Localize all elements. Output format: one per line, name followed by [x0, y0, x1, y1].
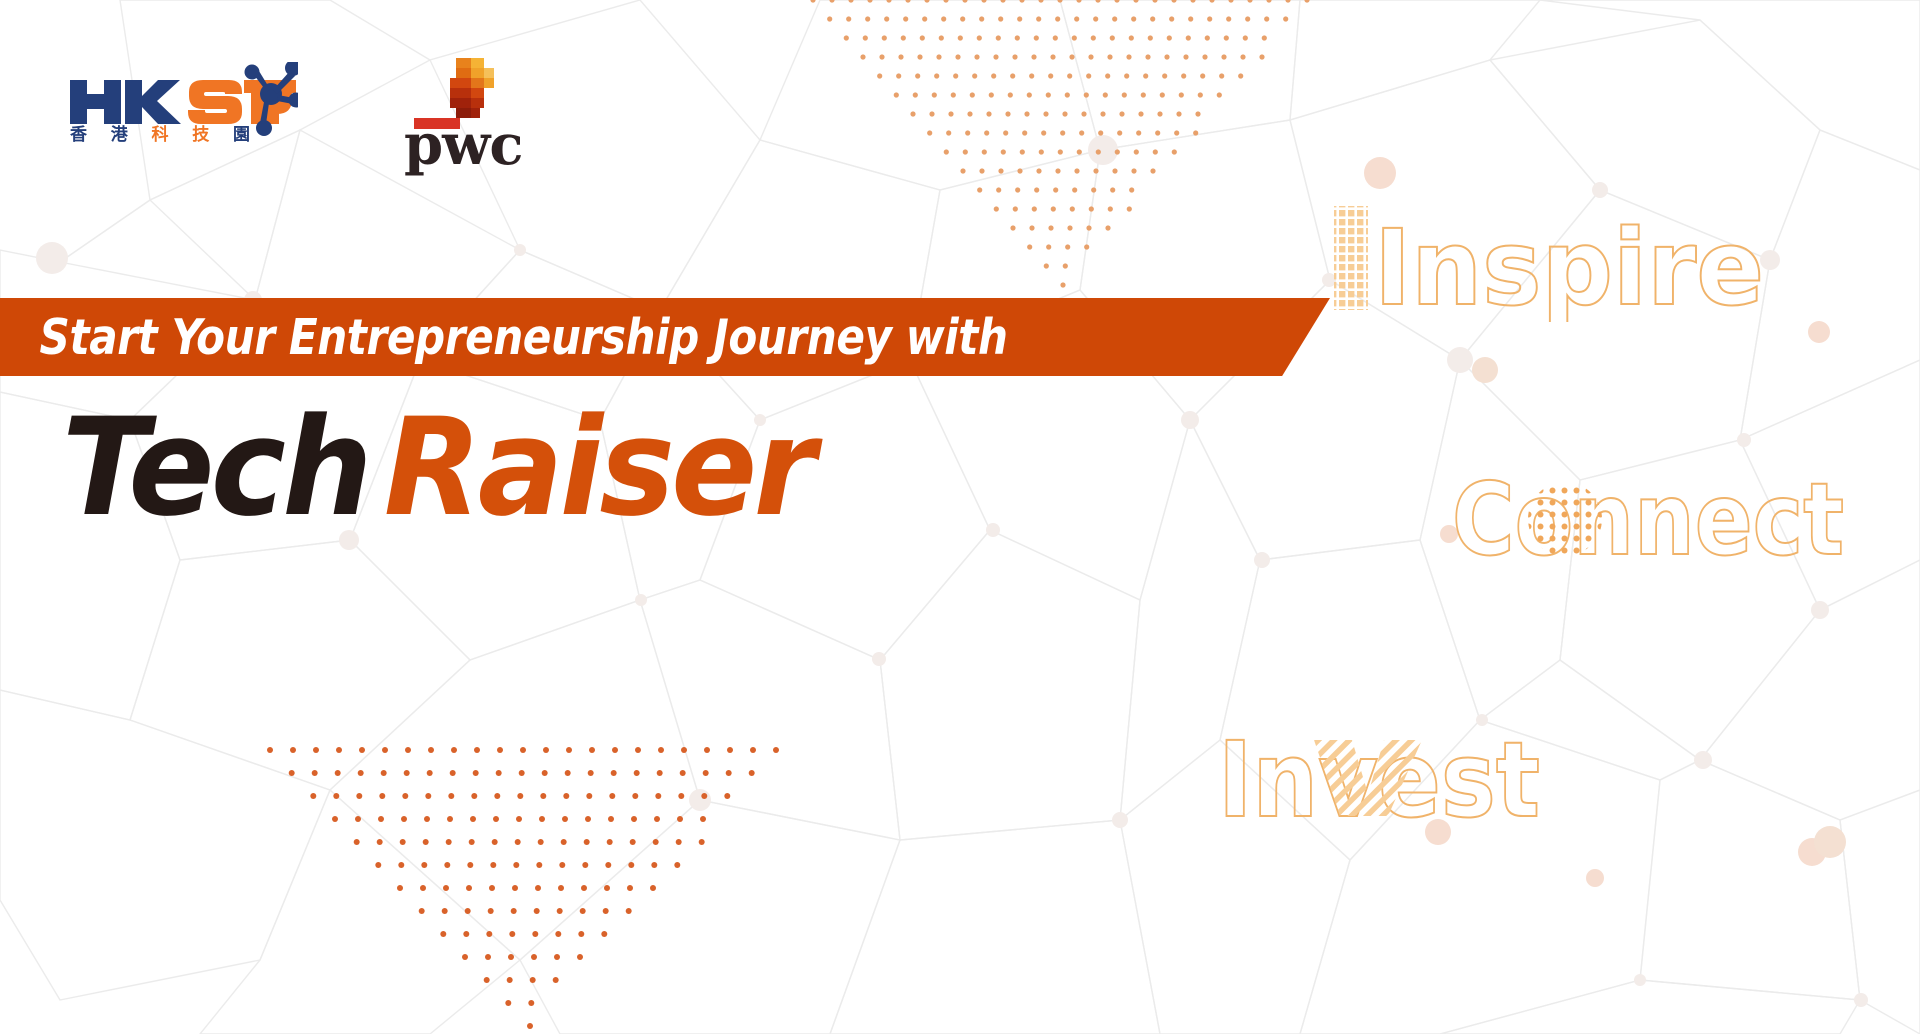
- keyword-connect: Connect: [1452, 450, 1852, 570]
- hero-banner-page: 香 港 科 技 園: [0, 0, 1920, 1034]
- headline-text: Start Your Entrepreneurship Journey with: [0, 313, 1008, 362]
- wordmark-raiser: Raiser: [384, 389, 812, 546]
- hkstp-hk-lettermark: [70, 80, 181, 124]
- hkstp-logo[interactable]: 香 港 科 技 園: [68, 62, 298, 152]
- techraiser-wordmark: TechRaiser: [62, 400, 812, 535]
- keyword-inspire: Inspire: [1330, 192, 1770, 322]
- pwc-logo[interactable]: pwc: [390, 55, 530, 155]
- keyword-connect-label: Connect: [1452, 461, 1844, 570]
- wordmark-tech: Tech: [62, 389, 369, 546]
- pwc-wordmark: pwc: [404, 117, 522, 173]
- hkstp-chinese-char: 園: [233, 120, 250, 145]
- hkstp-chinese-char: 技: [192, 120, 209, 145]
- keyword-inspire-label: Inspire: [1374, 207, 1764, 322]
- keyword-invest: Invest: [1218, 712, 1558, 832]
- hkstp-chinese-char: 科: [152, 120, 169, 145]
- partner-logo-row: 香 港 科 技 園: [0, 0, 600, 190]
- hkstp-chinese-char: 香: [70, 120, 87, 145]
- hkstp-chinese-char: 港: [111, 120, 128, 145]
- hkstp-chinese-name: 香 港 科 技 園: [70, 120, 250, 145]
- headline-banner: Start Your Entrepreneurship Journey with: [0, 298, 1330, 376]
